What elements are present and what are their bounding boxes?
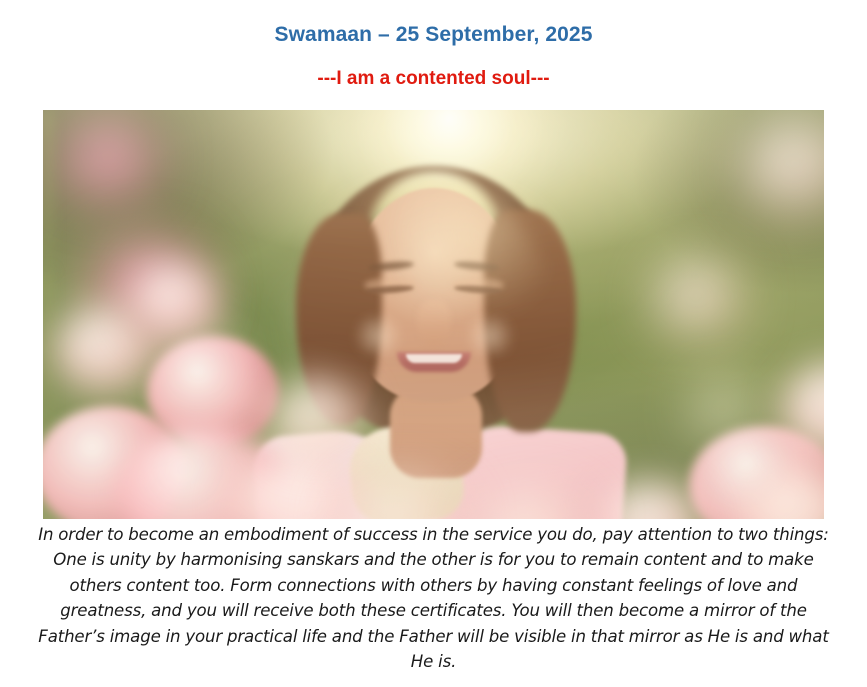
- subtitle-dash-left: ---: [317, 68, 336, 89]
- page-subtitle: ---I am a contented soul---: [0, 68, 867, 91]
- hero-photo: [43, 110, 824, 519]
- subtitle-dash-right: ---: [531, 68, 550, 89]
- quote-text: In order to become an embodiment of succ…: [34, 522, 833, 674]
- page-title: Swamaan – 25 September, 2025: [0, 22, 867, 47]
- depth-of-field-overlay: [43, 110, 824, 519]
- slide-page: Swamaan – 25 September, 2025 ---I am a c…: [0, 0, 867, 687]
- subtitle-text: I am a contented soul: [336, 68, 530, 89]
